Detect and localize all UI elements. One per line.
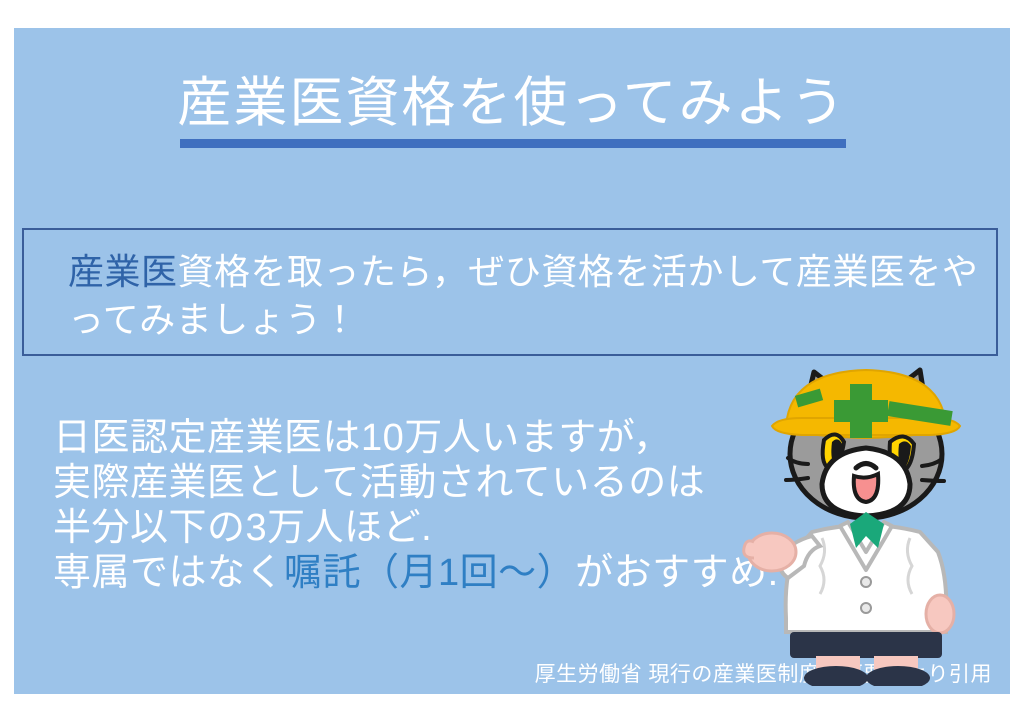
body-line-4-accent-text: 嘱託（月1回〜） xyxy=(284,552,575,594)
hard-hat-icon xyxy=(772,370,960,438)
body-line-1: 日医認定産業医は10万人いますが， xyxy=(53,416,793,461)
cat-doctor-illustration xyxy=(742,356,992,686)
cat-muzzle-icon xyxy=(822,448,910,516)
body-line-3: 半分以下の3万人ほど. xyxy=(53,506,793,551)
pants-icon xyxy=(790,632,942,658)
callout-accent-text: 産業医 xyxy=(68,251,178,292)
body-line-4-text-pre: 専属ではなく xyxy=(53,552,284,594)
body-line-2: 実際産業医として活動されているのは xyxy=(53,461,793,506)
body-line-3-text: 半分以下の3万人ほど. xyxy=(53,507,432,549)
body-line-1-text: 日医認定産業医は10万人いますが， xyxy=(53,417,672,459)
page-title: 産業医資格を使ってみよう xyxy=(14,76,1010,130)
slide-background: 産業医資格を使ってみよう 産業医資格を取ったら，ぜひ資格を活かして産業医をやって… xyxy=(14,28,1010,694)
page-title-text: 産業医資格を使ってみよう xyxy=(177,76,846,130)
callout-rest-text: 資格を取ったら，ぜひ資格を活かして産業医をやってみましょう！ xyxy=(68,251,978,340)
body-line-4: 専属ではなく嘱託（月1回〜）がおすすめ. xyxy=(53,551,793,596)
title-underline-rule xyxy=(180,139,846,148)
callout-text: 産業医資格を取ったら，ぜひ資格を活かして産業医をやってみましょう！ xyxy=(68,248,988,344)
body-paragraph: 日医認定産業医は10万人いますが， 実際産業医として活動されているのは 半分以下… xyxy=(53,416,793,596)
body-line-2-text: 実際産業医として活動されているのは xyxy=(53,462,705,504)
cat-right-paw-icon xyxy=(926,595,954,633)
slide-canvas: 産業医資格を使ってみよう 産業医資格を取ったら，ぜひ資格を活かして産業医をやって… xyxy=(0,0,1024,724)
callout-box: 産業医資格を取ったら，ぜひ資格を活かして産業医をやってみましょう！ xyxy=(22,228,998,356)
